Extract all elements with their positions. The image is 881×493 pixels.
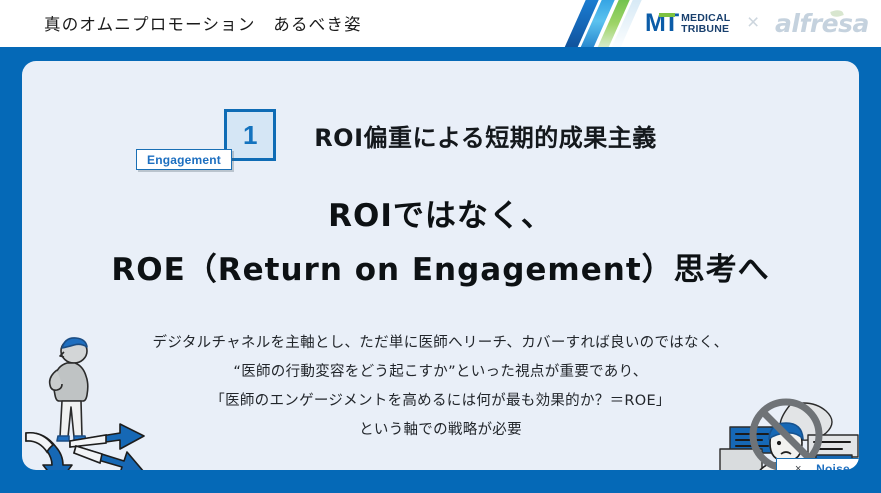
slide-frame: 1 ROI偏重による短期的成果主義 ROIではなく、 ROE（Return on… [0, 47, 881, 493]
page-title: 真のオムニプロモーション あるべき姿 [44, 11, 362, 35]
person-standing-icon [50, 338, 88, 441]
medical-tribune-logo: MT MEDICAL TRIBUNE [645, 12, 730, 34]
alfresa-wordmark: alfresa [775, 9, 869, 38]
section-subheading: ROI偏重による短期的成果主義 [314, 118, 657, 153]
slide-header: 真のオムニプロモーション あるべき姿 MT MEDICAL TRIBUNE × … [0, 0, 881, 47]
mt-word-medical: MEDICAL [681, 13, 730, 24]
slide-panel: 1 ROI偏重による短期的成果主義 ROIではなく、 ROE（Return on… [22, 61, 859, 470]
engagement-illustration [24, 333, 254, 470]
headline-line-2: ROE（Return on Engagement）思考へ [22, 243, 859, 297]
noise-label-chip: × Noise [776, 458, 859, 470]
logo-cross-separator-icon: × [747, 11, 759, 35]
mt-wordmark: MEDICAL TRIBUNE [681, 12, 730, 34]
slide-root: 真のオムニプロモーション あるべき姿 MT MEDICAL TRIBUNE × … [0, 0, 881, 493]
engagement-label-chip: Engagement [136, 149, 232, 170]
headline-line-1: ROIではなく、 [22, 189, 859, 243]
mt-word-tribune: TRIBUNE [681, 24, 730, 35]
step-number-badge: 1 [224, 109, 276, 161]
engagement-label-text: Engagement [147, 153, 221, 167]
step-number-badge-label: 1 [243, 120, 257, 151]
arrow-down-right-icon [74, 446, 144, 470]
brand-logo: MT MEDICAL TRIBUNE × alfresa [569, 0, 869, 47]
noise-cross-icon: × [795, 463, 801, 470]
headline-block: ROIではなく、 ROE（Return on Engagement）思考へ [22, 189, 859, 297]
mt-monogram: MT [645, 12, 677, 34]
noise-label-text: Noise [816, 462, 850, 470]
